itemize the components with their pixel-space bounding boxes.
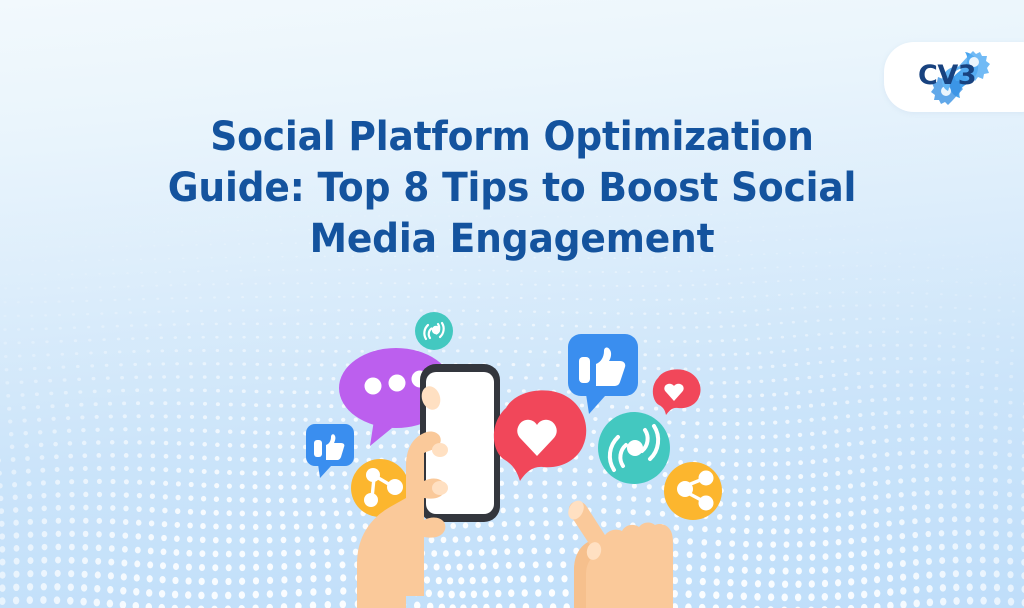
thumbs-up-icon-small [306, 424, 354, 478]
page-title-line-2: Guide: Top 8 Tips to Boost Social [31, 163, 994, 214]
logo-card[interactable]: CV3 [884, 42, 1024, 112]
heart-icon-large [494, 390, 586, 481]
pointing-hand [565, 498, 673, 608]
heart-icon-small [653, 369, 701, 415]
share-icon-right [664, 462, 722, 520]
hero-banner: CV3 Social Platform Optimization Guide: … [0, 0, 1024, 608]
page-title-line-1: Social Platform Optimization [31, 112, 994, 163]
signal-icon-small [415, 312, 453, 350]
page-title-line-3: Media Engagement [31, 214, 994, 265]
thumbs-up-icon-large [568, 334, 638, 414]
logo-wordmark: CV3 [918, 62, 976, 89]
cv3-logo: CV3 [912, 49, 1004, 105]
social-engagement-illustration [256, 296, 768, 608]
page-title: Social Platform Optimization Guide: Top … [31, 112, 994, 265]
signal-icon-large [598, 412, 670, 484]
